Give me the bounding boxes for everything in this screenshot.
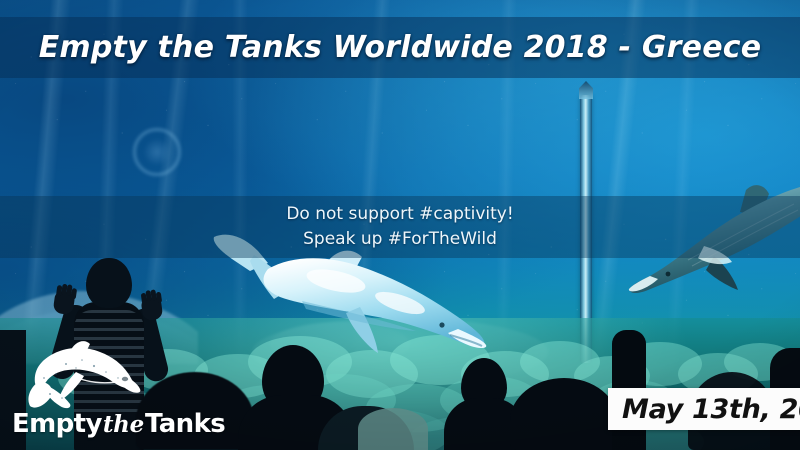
logo-word-the: the (102, 411, 145, 438)
poster-image: Empty the Tanks Worldwide 2018 - Greece … (0, 0, 800, 450)
date-badge: May 13th, 20 (608, 388, 800, 430)
message-line-1: Do not support #captivity! (286, 203, 513, 226)
orca-logo-icon (26, 338, 144, 410)
message-block: Do not support #captivity! Speak up #For… (0, 196, 800, 258)
logo-word-tanks: Tanks (145, 409, 225, 439)
logo-wordmark: Empty the Tanks (12, 408, 180, 440)
message-line-2: Speak up #ForTheWild (303, 228, 497, 251)
logo: Empty the Tanks (8, 338, 180, 442)
logo-word-empty: Empty (12, 409, 102, 439)
date-badge-text: May 13th, 20 (622, 394, 800, 425)
page-title: Empty the Tanks Worldwide 2018 - Greece (0, 17, 800, 78)
